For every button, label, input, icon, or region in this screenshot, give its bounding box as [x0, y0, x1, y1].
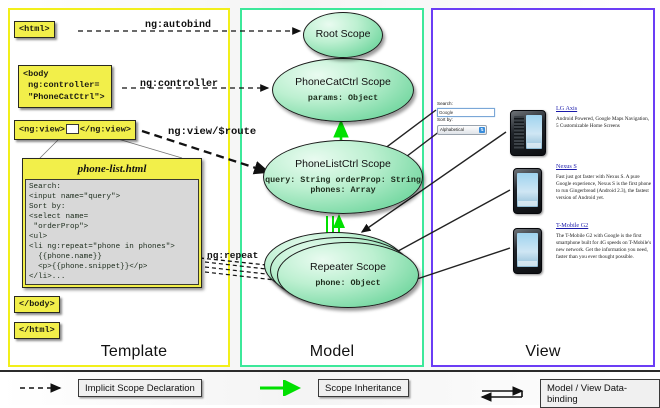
phone-listing: Nexus S Fast just got faster with Nexus … — [556, 163, 652, 202]
label-ng-repeat: ng:repeat — [207, 250, 258, 261]
phone-snippet: The T-Mobile G2 with Google is the first… — [556, 233, 652, 260]
phone-name-link[interactable]: Nexus S — [556, 163, 652, 171]
legend-label: Model / View Data-binding — [540, 379, 660, 408]
dashed-arrow-icon — [18, 380, 70, 396]
repeater-scope: Repeater Scope phone: Object — [277, 242, 419, 308]
panel-title-model: Model — [242, 343, 422, 361]
green-arrow-icon — [258, 380, 310, 396]
sort-select-value: Alphabetical — [440, 127, 464, 132]
scope-name: PhoneListCtrl Scope — [295, 159, 391, 171]
scope-props: phone: Object — [315, 278, 380, 288]
sort-label: Sort by: — [437, 117, 495, 124]
label-ng-view-route: ng:view/$route — [168, 126, 256, 138]
legend-label: Scope Inheritance — [318, 379, 409, 397]
phone-listing: LG Axis Android Powered, Google Maps Nav… — [556, 105, 652, 130]
scope-name: Root Scope — [316, 29, 371, 41]
chevron-down-icon: ⇅ — [479, 127, 485, 133]
html-close-tag-box: </html> — [14, 322, 60, 339]
phone-thumbnail — [510, 110, 546, 156]
scope-name: PhoneCatCtrl Scope — [295, 77, 391, 89]
search-label: Search: — [437, 101, 495, 108]
ngview-close-tag: </ng:view> — [80, 124, 131, 134]
legend-item-scope-inheritance: Scope Inheritance — [258, 379, 409, 397]
legend: Implicit Scope Declaration Scope Inherit… — [0, 370, 660, 407]
phonecatctrl-scope: PhoneCatCtrl Scope params: Object — [272, 58, 414, 122]
phone-snippet: Android Powered, Google Maps Navigation,… — [556, 116, 652, 130]
ngview-placeholder-icon — [66, 124, 79, 134]
scope-props: params: Object — [308, 93, 378, 103]
ngview-tag-box: <ng:view></ng:view> — [14, 120, 136, 140]
ngview-open-tag: <ng:view> — [19, 124, 65, 134]
panel-title-view: View — [433, 343, 653, 361]
root-scope: Root Scope — [303, 12, 383, 58]
phone-listing: T-Mobile G2 The T-Mobile G2 with Google … — [556, 222, 652, 261]
scope-props: query: String orderProp: String phones: … — [264, 175, 422, 196]
partial-file-name: phone-list.html — [23, 159, 201, 179]
phone-name-link[interactable]: LG Axis — [556, 105, 652, 113]
double-arrow-icon — [480, 386, 532, 402]
legend-item-data-binding: Model / View Data-binding — [480, 379, 660, 408]
legend-item-implicit-scope: Implicit Scope Declaration — [18, 379, 202, 397]
phone-thumbnail — [513, 228, 542, 274]
legend-label: Implicit Scope Declaration — [78, 379, 202, 397]
phone-name-link[interactable]: T-Mobile G2 — [556, 222, 652, 230]
panel-title-template: Template — [10, 343, 228, 361]
diagram-canvas: Template Model View — [0, 0, 660, 405]
sort-select[interactable]: Alphabetical⇅ — [437, 125, 487, 135]
body-close-tag-box: </body> — [14, 296, 60, 313]
body-tag-box: <body ng:controller= "PhoneCatCtrl"> — [18, 65, 112, 108]
partial-source-code: Search: <input name="query"> Sort by: <s… — [25, 179, 199, 285]
phone-snippet: Fast just got faster with Nexus S. A pur… — [556, 174, 652, 201]
view-search-controls: Search: Google Sort by: Alphabetical⇅ — [437, 101, 495, 135]
label-ng-autobind: ng:autobind — [145, 20, 211, 31]
phonelistctrl-scope: PhoneListCtrl Scope query: String orderP… — [263, 140, 423, 214]
label-ng-controller: ng:controller — [140, 79, 218, 90]
phone-thumbnail — [513, 168, 542, 214]
html-tag-box: <html> — [14, 21, 55, 38]
scope-name: Repeater Scope — [310, 262, 386, 274]
search-input[interactable]: Google — [437, 108, 495, 117]
partial-template-card: phone-list.html Search: <input name="que… — [22, 158, 202, 288]
